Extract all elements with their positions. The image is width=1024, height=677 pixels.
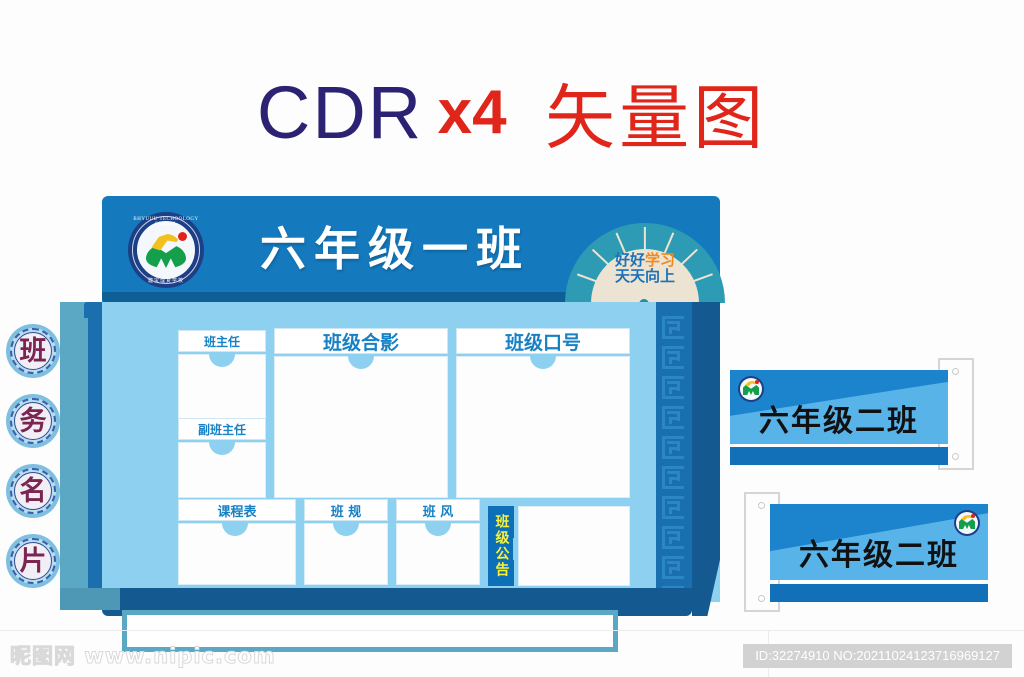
door-sign-bottom-logo <box>954 510 980 536</box>
side-badge-1[interactable]: 班 <box>6 324 60 378</box>
greek-key-segment <box>662 466 665 486</box>
door-sign-bottom-label: 六年级二班 <box>770 530 988 574</box>
greek-key-segment <box>662 436 684 439</box>
greek-key-segment <box>662 406 684 409</box>
board-right-edge <box>692 302 720 616</box>
panel-header-head-teacher: 班主任 <box>178 330 266 352</box>
door-sign-top[interactable]: 六年级二班 <box>730 358 974 470</box>
greek-key-segment <box>669 417 672 424</box>
image-id-bar: ID:32274910 NO:20211024123716969127 <box>743 644 1012 668</box>
door-sign-top-logo <box>738 376 764 402</box>
fan-decoration: 好好学习 天天向上 <box>565 223 725 305</box>
greek-key-segment <box>662 366 684 369</box>
door-sign-top-footer <box>730 447 948 465</box>
school-logo-text-top: BHYUUU TECHOOLOGY SCHLLL <box>128 217 204 227</box>
door-sign-top-label: 六年级二班 <box>730 396 948 440</box>
panel-header-schedule: 课程表 <box>178 499 296 521</box>
poster-title: CDR x4 矢量图 <box>0 62 1024 163</box>
announcement-label: 班级公告 <box>493 514 508 578</box>
fan-motto: 好好学习 天天向上 <box>593 253 697 285</box>
side-badge-4[interactable]: 片 <box>6 534 60 588</box>
side-badge-1-label: 班 <box>20 338 47 365</box>
greek-key-segment <box>662 376 665 396</box>
greek-key-segment <box>662 576 684 579</box>
poster-canvas: CDR x4 矢量图 BHYUUU TECHOOLOGY SCHLLL 建宝理复… <box>0 0 1024 677</box>
school-logo-text-bottom: 建宝理复学校 <box>128 277 204 284</box>
greek-key-segment <box>669 537 672 544</box>
greek-key-segment <box>669 447 672 454</box>
greek-key-segment <box>662 456 684 459</box>
greek-key-segment <box>669 357 672 364</box>
door-sign-bottom[interactable]: 六年级二班 <box>744 492 988 612</box>
panel-box-announcement-content[interactable] <box>518 506 630 586</box>
greek-key-segment <box>669 387 672 394</box>
watermark: 昵图网 www.nipic.com <box>10 640 276 670</box>
class-display-board: BHYUUU TECHOOLOGY SCHLLL 建宝理复学校 六年级一班 好好… <box>60 196 720 636</box>
greek-key-segment <box>662 376 684 379</box>
greek-key-pattern <box>660 314 688 590</box>
greek-key-segment <box>669 507 672 514</box>
announcement-strip[interactable]: 班级公告 <box>488 506 514 586</box>
greek-key-segment <box>669 477 672 484</box>
greek-key-segment <box>662 316 665 336</box>
board-bottom-left-bar <box>60 588 120 610</box>
greek-key-segment <box>662 486 684 489</box>
school-logo: BHYUUU TECHOOLOGY SCHLLL 建宝理复学校 <box>128 212 204 288</box>
title-chinese: 矢量图 <box>545 77 767 159</box>
panel-header-class-spirit: 班 风 <box>396 499 480 521</box>
panel-header-class-slogan: 班级口号 <box>456 328 630 354</box>
greek-key-segment <box>669 567 672 574</box>
greek-key-segment <box>662 336 684 339</box>
greek-key-segment <box>662 396 684 399</box>
side-badge-3[interactable]: 名 <box>6 464 60 518</box>
panel-header-assistant-head-teacher: 副班主任 <box>178 418 266 440</box>
greek-key-segment <box>662 526 665 546</box>
footer-divider <box>0 630 1024 631</box>
side-badge-4-label: 片 <box>20 548 47 575</box>
greek-key-segment <box>662 556 684 559</box>
panel-header-class-photo: 班级合影 <box>274 328 448 354</box>
greek-key-segment <box>662 556 665 576</box>
title-cdr: CDR <box>257 71 423 154</box>
greek-key-segment <box>662 496 684 499</box>
greek-key-segment <box>662 436 665 456</box>
greek-key-segment <box>662 526 684 529</box>
door-sign-top-plate: 六年级二班 <box>730 370 948 444</box>
greek-key-segment <box>669 327 672 334</box>
title-version: x4 <box>438 78 507 147</box>
greek-key-segment <box>662 466 684 469</box>
side-badge-2-label: 务 <box>20 408 47 435</box>
panel-box-class-photo[interactable] <box>274 356 448 498</box>
side-badge-3-label: 名 <box>20 478 47 505</box>
fan-motto-line2: 天天向上 <box>593 269 697 285</box>
greek-key-segment <box>662 406 665 426</box>
greek-key-segment <box>662 546 684 549</box>
greek-key-segment <box>662 346 684 349</box>
greek-key-segment <box>662 426 684 429</box>
door-sign-bottom-footer <box>770 584 988 602</box>
greek-key-segment <box>662 346 665 366</box>
greek-key-segment <box>662 496 665 516</box>
panel-header-class-rules: 班 规 <box>304 499 388 521</box>
panel-box-class-slogan[interactable] <box>456 356 630 498</box>
board-class-title: 六年级一班 <box>230 218 560 280</box>
greek-key-segment <box>662 316 684 319</box>
greek-key-segment <box>662 516 684 519</box>
school-logo-mark <box>144 234 188 268</box>
side-badge-2[interactable]: 务 <box>6 394 60 448</box>
